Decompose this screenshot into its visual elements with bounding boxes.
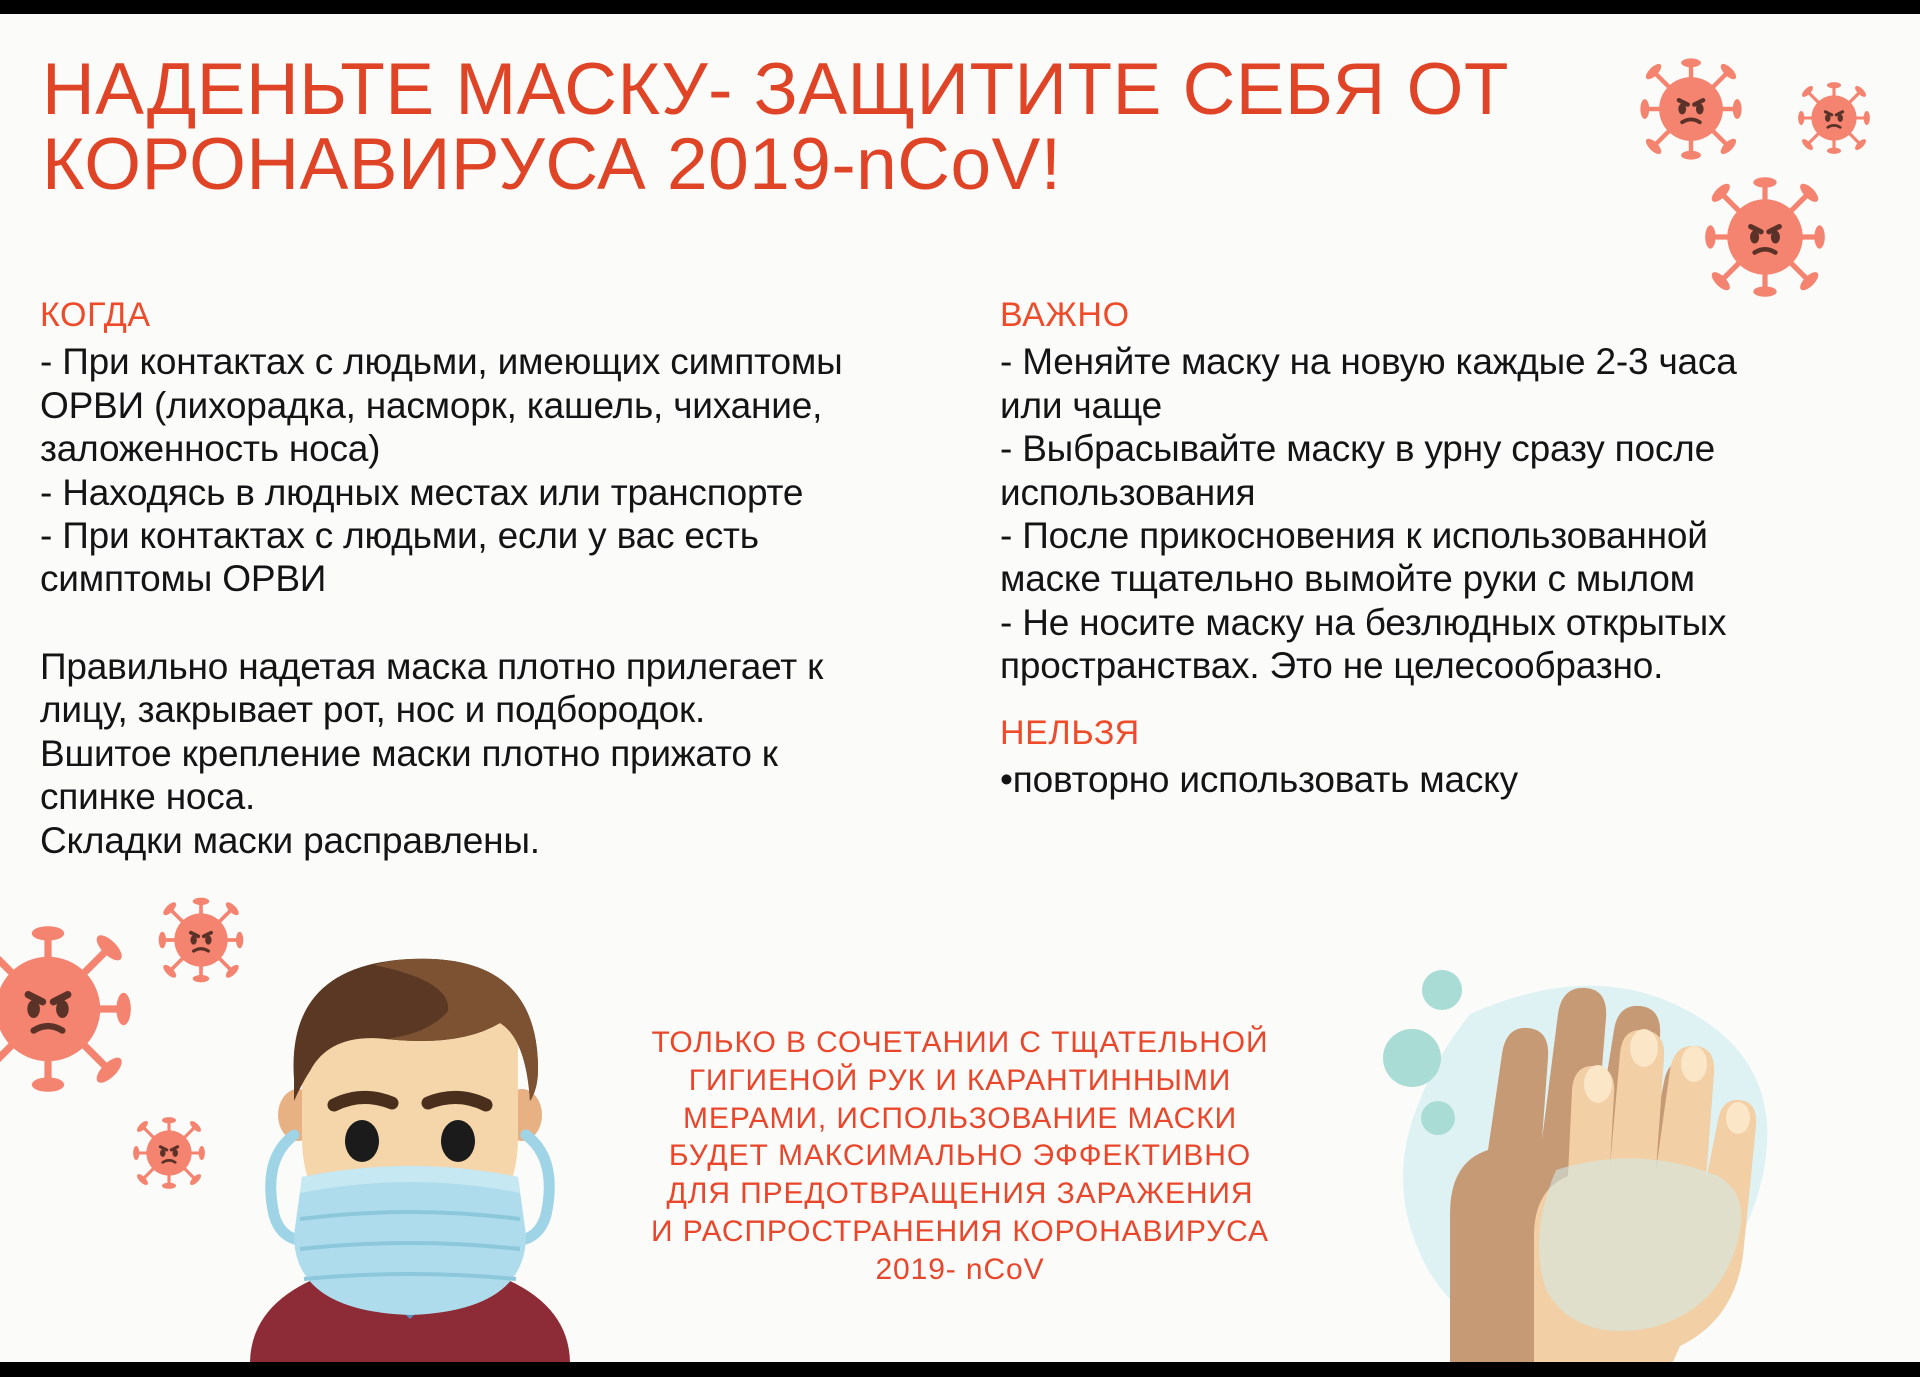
caption-line-3: МЕРАМИ, ИСПОЛЬЗОВАНИЕ МАСКИ — [590, 1100, 1330, 1138]
bottom-caption: ТОЛЬКО В СОЧЕТАНИИ С ТЩАТЕЛЬНОЙ ГИГИЕНОЙ… — [590, 1024, 1330, 1289]
when-line-1: - При контактах с людьми, имеющих симпто… — [40, 340, 945, 383]
coronavirus-icon-left-1 — [0, 919, 138, 1099]
section-heading-important: ВАЖНО — [1000, 296, 1870, 335]
title-line-2: КОРОНАВИРУСА 2019-nCoV! — [42, 127, 1642, 202]
mask-fit-paragraph: Правильно надетая маска плотно прилегает… — [40, 645, 945, 862]
when-list: - При контактах с людьми, имеющих симпто… — [40, 340, 945, 601]
caption-line-2: ГИГИЕНОЙ РУК И КАРАНТИННЫМИ — [590, 1062, 1330, 1100]
coronavirus-icon-top-2 — [1795, 79, 1873, 157]
when-line-6: симптомы ОРВИ — [40, 557, 945, 600]
when-line-2: ОРВИ (лихорадка, насморк, кашель, чихани… — [40, 384, 945, 427]
forbidden-list: •повторно использовать маску — [1000, 758, 1870, 801]
caption-line-4: БУДЕТ МАКСИМАЛЬНО ЭФФЕКТИВНО — [590, 1137, 1330, 1175]
fit-line-1: Правильно надетая маска плотно прилегает… — [40, 645, 945, 688]
section-heading-when: КОГДА — [40, 296, 945, 335]
important-line-1: - Меняйте маску на новую каждые 2-3 часа — [1000, 340, 1870, 383]
spacer — [1000, 688, 1870, 714]
important-line-3: - Выбрасывайте маску в урну сразу после — [1000, 427, 1870, 470]
important-line-2: или чаще — [1000, 384, 1870, 427]
when-line-5: - При контактах с людьми, если у вас ест… — [40, 514, 945, 557]
fit-line-5: Складки маски расправлены. — [40, 819, 945, 862]
poster-sheet: НАДЕНЬТЕ МАСКУ- ЗАЩИТИТЕ СЕБЯ ОТ КОРОНАВ… — [0, 14, 1920, 1362]
title-line-1: НАДЕНЬТЕ МАСКУ- ЗАЩИТИТЕ СЕБЯ ОТ — [42, 52, 1642, 127]
caption-line-7: 2019- nCoV — [590, 1251, 1330, 1289]
forbidden-line-1: •повторно использовать маску — [1000, 758, 1870, 801]
poster-root: НАДЕНЬТЕ МАСКУ- ЗАЩИТИТЕ СЕБЯ ОТ КОРОНАВ… — [0, 0, 1920, 1377]
when-line-4: - Находясь в людных местах или транспорт… — [40, 471, 945, 514]
hands-washing-illustration — [1320, 894, 1840, 1362]
caption-line-5: ДЛЯ ПРЕДОТВРАЩЕНИЯ ЗАРАЖЕНИЯ — [590, 1175, 1330, 1213]
soap-bubble-3 — [1421, 1101, 1455, 1135]
important-line-8: пространствах. Это не целесообразно. — [1000, 644, 1870, 687]
important-line-4: использования — [1000, 471, 1870, 514]
soap-bubble-2 — [1383, 1029, 1441, 1087]
important-line-7: - Не носите маску на безлюдных открытых — [1000, 601, 1870, 644]
important-line-6: маске тщательно вымойте руки с мылом — [1000, 557, 1870, 600]
when-line-3: заложенность носа) — [40, 427, 945, 470]
caption-line-6: И РАСПРОСТРАНЕНИЯ КОРОНАВИРУСА — [590, 1213, 1330, 1251]
caption-line-1: ТОЛЬКО В СОЧЕТАНИИ С ТЩАТЕЛЬНОЙ — [590, 1024, 1330, 1062]
spacer — [40, 601, 945, 645]
section-heading-forbidden: НЕЛЬЗЯ — [1000, 714, 1870, 753]
fit-line-2: лицу, закрывает рот, нос и подбородок. — [40, 688, 945, 731]
important-list: - Меняйте маску на новую каждые 2-3 часа… — [1000, 340, 1870, 688]
coronavirus-icon-top-3 — [1700, 172, 1830, 302]
page-title: НАДЕНЬТЕ МАСКУ- ЗАЩИТИТЕ СЕБЯ ОТ КОРОНАВ… — [42, 52, 1642, 202]
important-line-5: - После прикосновения к использованной — [1000, 514, 1870, 557]
soap-bubble-1 — [1422, 970, 1462, 1010]
right-column: ВАЖНО - Меняйте маску на новую каждые 2-… — [1000, 296, 1870, 801]
fit-line-4: спинке носа. — [40, 775, 945, 818]
fit-line-3: Вшитое крепление маски плотно прижато к — [40, 732, 945, 775]
left-column: КОГДА - При контактах с людьми, имеющих … — [40, 296, 945, 862]
coronavirus-icon-top-1 — [1636, 54, 1746, 164]
boy-with-mask-illustration — [190, 919, 630, 1362]
